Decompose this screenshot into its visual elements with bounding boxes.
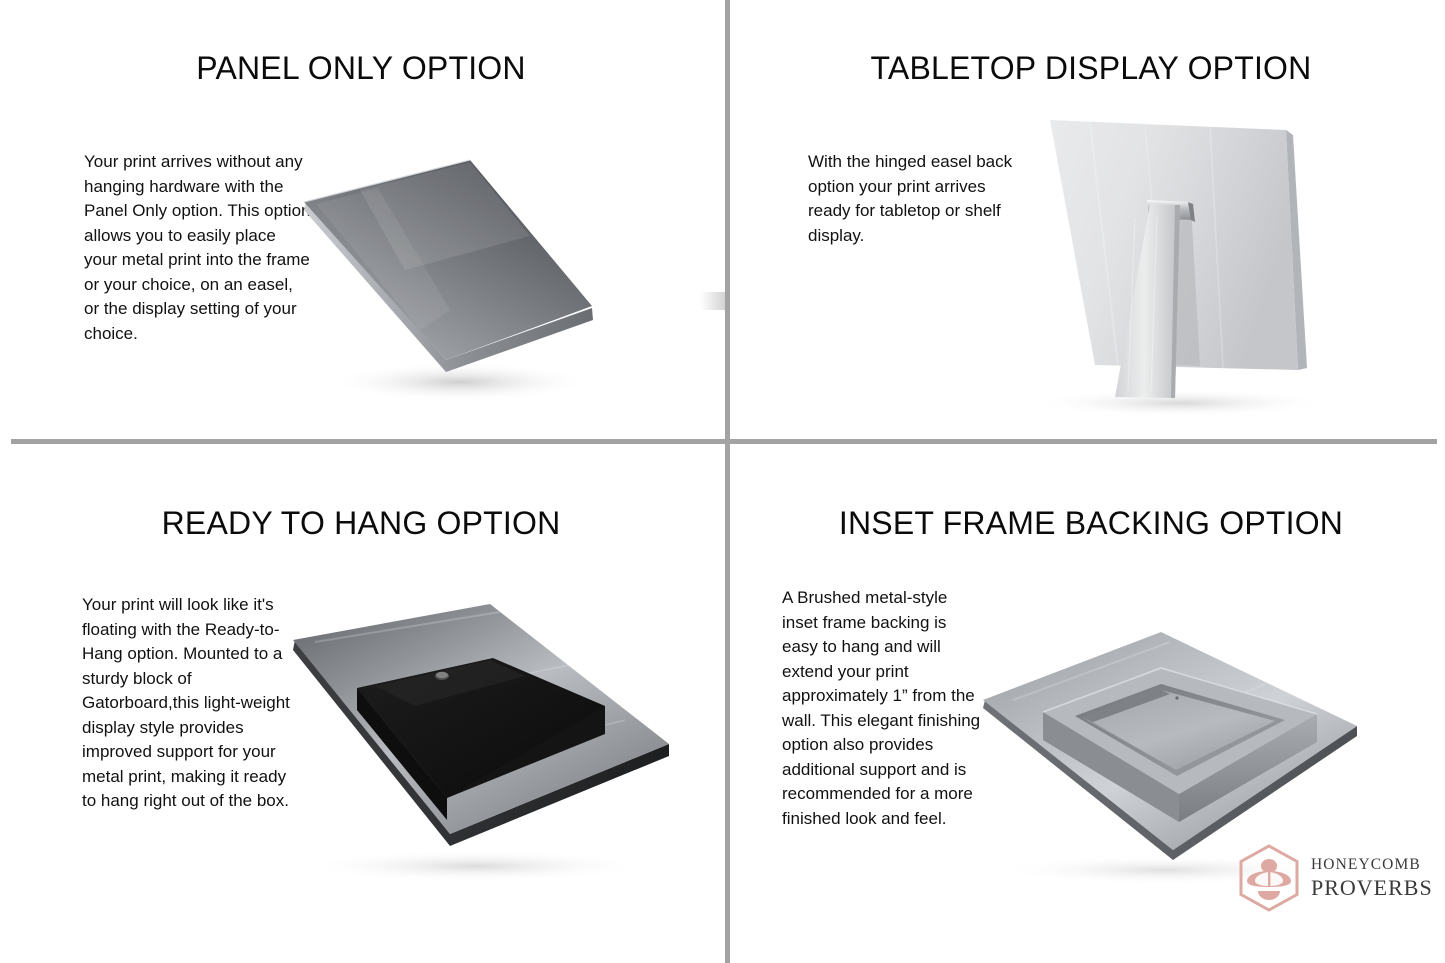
brand-logo: HONEYCOMB PROVERBS [1236,843,1433,913]
brand-logo-text: HONEYCOMB PROVERBS [1311,857,1433,899]
float-mount-gatorboard-photo [275,598,675,888]
brand-name-line2: PROVERBS [1311,877,1433,899]
panel-only-title: PANEL ONLY OPTION [0,50,722,87]
inset-frame-backing-description: A Brushed metal-style inset frame backin… [782,586,982,831]
easel-back-panel-photo [995,108,1345,420]
panel-only-description: Your print arrives without any hanging h… [84,150,312,346]
faint-background-artifact [700,292,726,310]
display-options-infographic: PANEL ONLY OPTION Your print arrives wit… [0,0,1445,963]
honeycomb-bee-hexagon-icon [1236,843,1302,913]
ready-to-hang-title: READY TO HANG OPTION [0,505,722,542]
tabletop-display-description: With the hinged easel back option your p… [808,150,1013,248]
horizontal-divider [11,439,1437,444]
vertical-divider [725,0,730,963]
tabletop-display-title: TABLETOP DISPLAY OPTION [730,50,1445,87]
ready-to-hang-description: Your print will look like it's floating … [82,593,297,814]
flat-metal-panel-photo [300,150,600,410]
inset-frame-backing-title: INSET FRAME BACKING OPTION [730,505,1445,542]
brand-name-line1: HONEYCOMB [1311,857,1433,873]
